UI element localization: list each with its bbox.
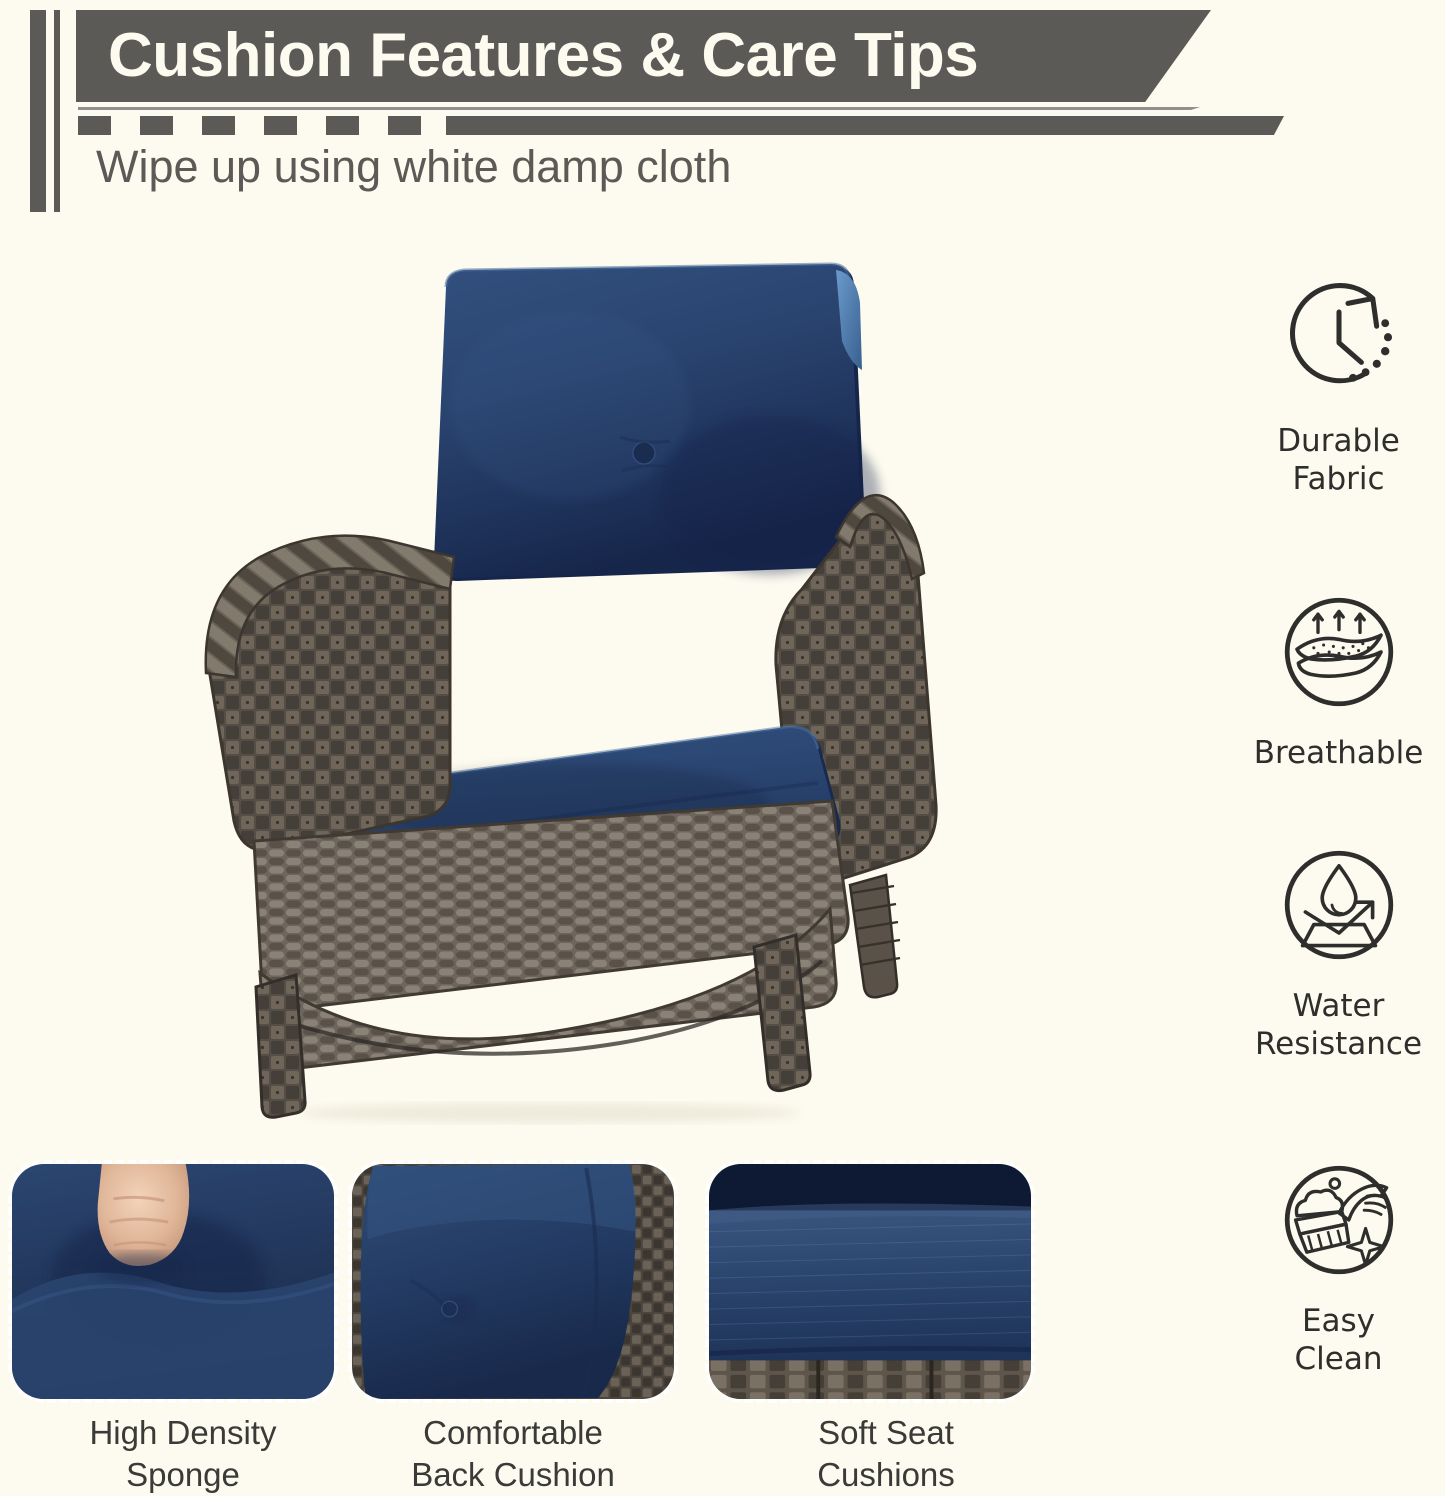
header-hairline: [78, 107, 1200, 110]
accent-bar-thin: [54, 10, 60, 212]
feature-label: Breathable: [1254, 734, 1424, 772]
dash-segment: [140, 116, 173, 135]
product-hero-image: [150, 245, 970, 1125]
feature-icon-column: Durable Fabric: [1232, 270, 1445, 1420]
header-underline-bar: [446, 116, 1284, 135]
feature-breathable: Breathable: [1232, 582, 1445, 772]
back-cushion: [434, 264, 880, 581]
feature-label: Water Resistance: [1255, 987, 1422, 1063]
header-banner: Cushion Features & Care Tips Wipe up usi…: [0, 0, 1445, 225]
dash-segment: [388, 116, 421, 135]
feature-durable-fabric: Durable Fabric: [1232, 270, 1445, 498]
dash-segment: [202, 116, 235, 135]
dash-segment: [264, 116, 297, 135]
left-arm: [206, 536, 454, 851]
page-title: Cushion Features & Care Tips: [108, 16, 1198, 96]
dash-segment: [326, 116, 359, 135]
feature-water-resistance: Water Resistance: [1232, 835, 1445, 1063]
thumbnail-caption: Comfortable Back Cushion: [348, 1412, 678, 1496]
brush-sparkle-icon: [1269, 1150, 1409, 1290]
seat-cushion-closeup-image: [705, 1160, 1035, 1403]
hand-pressing-cushion-image: [8, 1160, 338, 1403]
thumbnail-caption: High Density Sponge: [18, 1412, 348, 1496]
breathable-fabric-icon: [1269, 582, 1409, 722]
thumbnail-comfortable-back-cushion: Comfortable Back Cushion: [348, 1160, 678, 1410]
thumbnail-soft-seat-cushions: Soft Seat Cushions: [705, 1160, 1035, 1410]
seat-base: [254, 801, 848, 1069]
feature-label: Durable Fabric: [1277, 422, 1400, 498]
feature-label: Easy Clean: [1295, 1302, 1383, 1378]
feature-easy-clean: Easy Clean: [1232, 1150, 1445, 1378]
accent-bar-thick: [30, 10, 46, 212]
thumbnail-high-density-sponge: High Density Sponge: [8, 1160, 338, 1410]
dash-segment: [78, 116, 111, 135]
thumbnail-strip: High Density Sponge: [0, 1160, 1020, 1487]
clock-arrow-icon: [1269, 270, 1409, 410]
back-cushion-closeup-image: [348, 1160, 678, 1403]
header-subtitle: Wipe up using white damp cloth: [96, 141, 731, 193]
thumbnail-caption: Soft Seat Cushions: [721, 1412, 1051, 1496]
water-droplet-repel-icon: [1269, 835, 1409, 975]
